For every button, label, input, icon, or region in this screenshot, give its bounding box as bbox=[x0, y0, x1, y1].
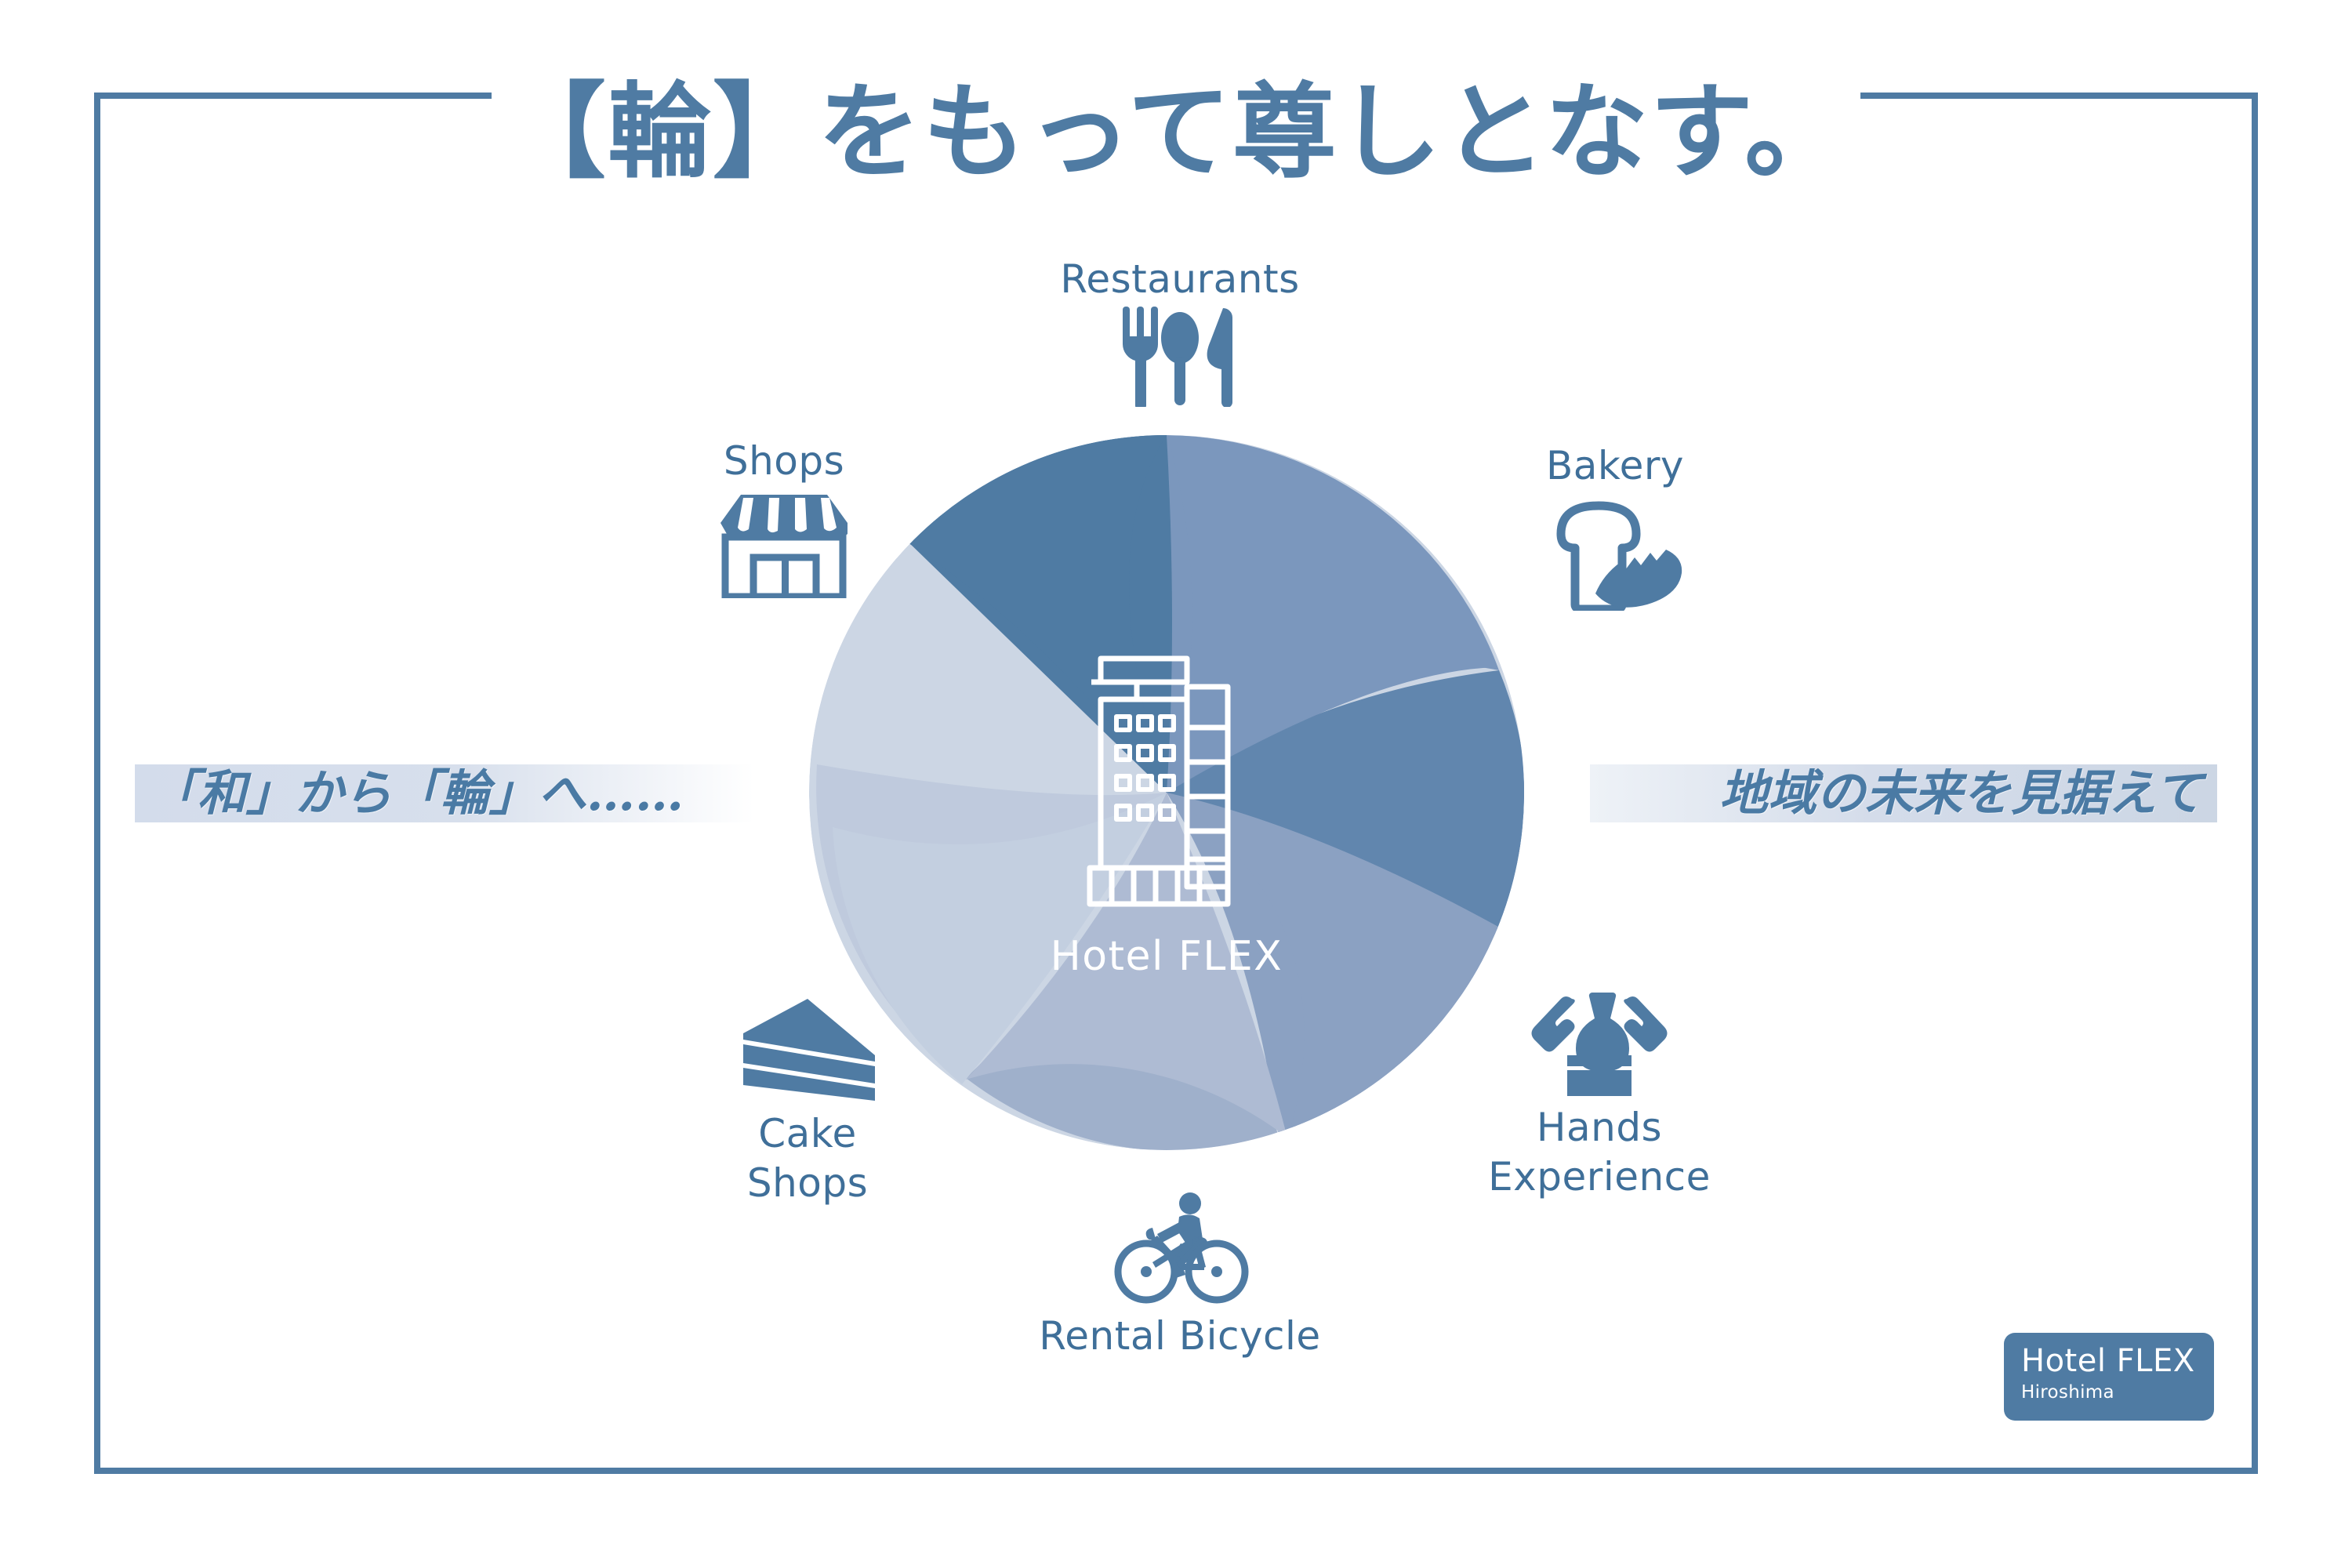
tagline-banner-right: 地域の未来を見据えて bbox=[1590, 764, 2217, 822]
logo-main-text: Hotel FLEX bbox=[2021, 1345, 2214, 1377]
hotel-building-icon bbox=[1087, 652, 1243, 911]
cyclist-icon bbox=[976, 1192, 1384, 1309]
node-hands-experience[interactable]: Hands Experience bbox=[1435, 989, 1764, 1198]
node-cake-label-line2: Shops bbox=[662, 1163, 953, 1204]
tagline-banner-left: 「和」から「輪」へ…… bbox=[135, 764, 754, 822]
node-bakery-label: Bakery bbox=[1458, 445, 1772, 487]
node-cake-shops[interactable]: Cake Shops bbox=[662, 996, 953, 1204]
bread-loaf-icon bbox=[1458, 493, 1772, 611]
tagline-left-text: 「和」から「輪」へ…… bbox=[149, 769, 684, 818]
node-shops-label: Shops bbox=[627, 441, 941, 482]
node-bicycle-label: Rental Bicycle bbox=[976, 1316, 1384, 1357]
tagline-right-text: 地域の未来を見据えて bbox=[1719, 769, 2203, 818]
node-rental-bicycle[interactable]: Rental Bicycle bbox=[976, 1192, 1384, 1357]
node-hands-label-line2: Experience bbox=[1435, 1156, 1764, 1198]
hotel-flex-logo[interactable]: Hotel FLEX Hiroshima bbox=[2004, 1333, 2214, 1421]
hub-label: Hotel FLEX bbox=[809, 933, 1524, 980]
storefront-icon bbox=[627, 488, 941, 598]
node-shops[interactable]: Shops bbox=[627, 441, 941, 598]
node-bakery[interactable]: Bakery bbox=[1458, 445, 1772, 611]
pottery-hands-icon bbox=[1435, 989, 1764, 1099]
cake-slice-icon bbox=[662, 996, 953, 1105]
node-cake-label-line1: Cake bbox=[662, 1113, 953, 1155]
fork-spoon-knife-icon bbox=[976, 305, 1384, 407]
node-hands-label-line1: Hands bbox=[1435, 1107, 1764, 1149]
node-restaurants[interactable]: Restaurants bbox=[976, 259, 1384, 407]
page-title: 【輪】をもって尊しとなす。 bbox=[0, 75, 2352, 191]
node-restaurants-label: Restaurants bbox=[976, 259, 1384, 300]
logo-sub-text: Hiroshima bbox=[2021, 1384, 2214, 1402]
page-title-text: 【輪】をもって尊しとなす。 bbox=[492, 75, 1860, 191]
poster-canvas: 【輪】をもって尊しとなす。 「和」から「輪」へ…… 地域の未来を見据えて bbox=[0, 0, 2352, 1568]
